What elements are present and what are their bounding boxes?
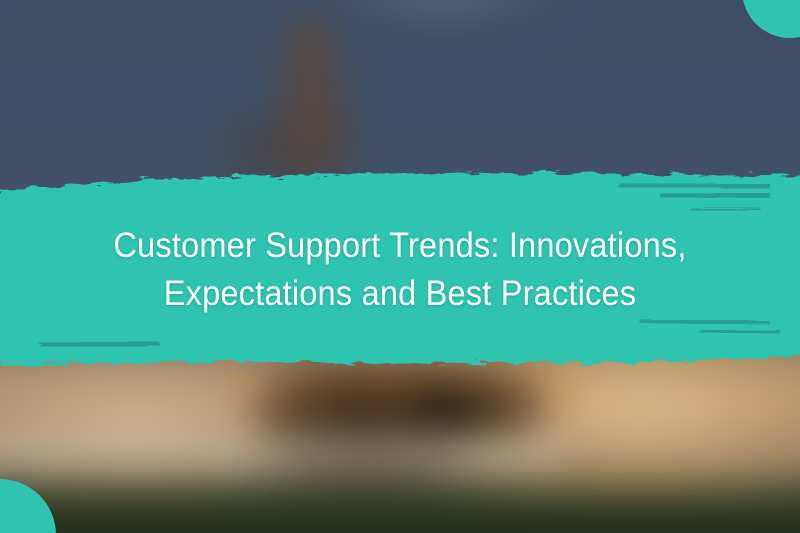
background-figure-head: [286, 9, 334, 76]
background-ground-strip: [0, 475, 800, 533]
page-title: Customer Support Trends: Innovations, Ex…: [28, 222, 772, 318]
background-pale-band: [0, 426, 558, 481]
hero-banner: Customer Support Trends: Innovations, Ex…: [0, 0, 800, 533]
background-cloud: [312, 0, 576, 21]
